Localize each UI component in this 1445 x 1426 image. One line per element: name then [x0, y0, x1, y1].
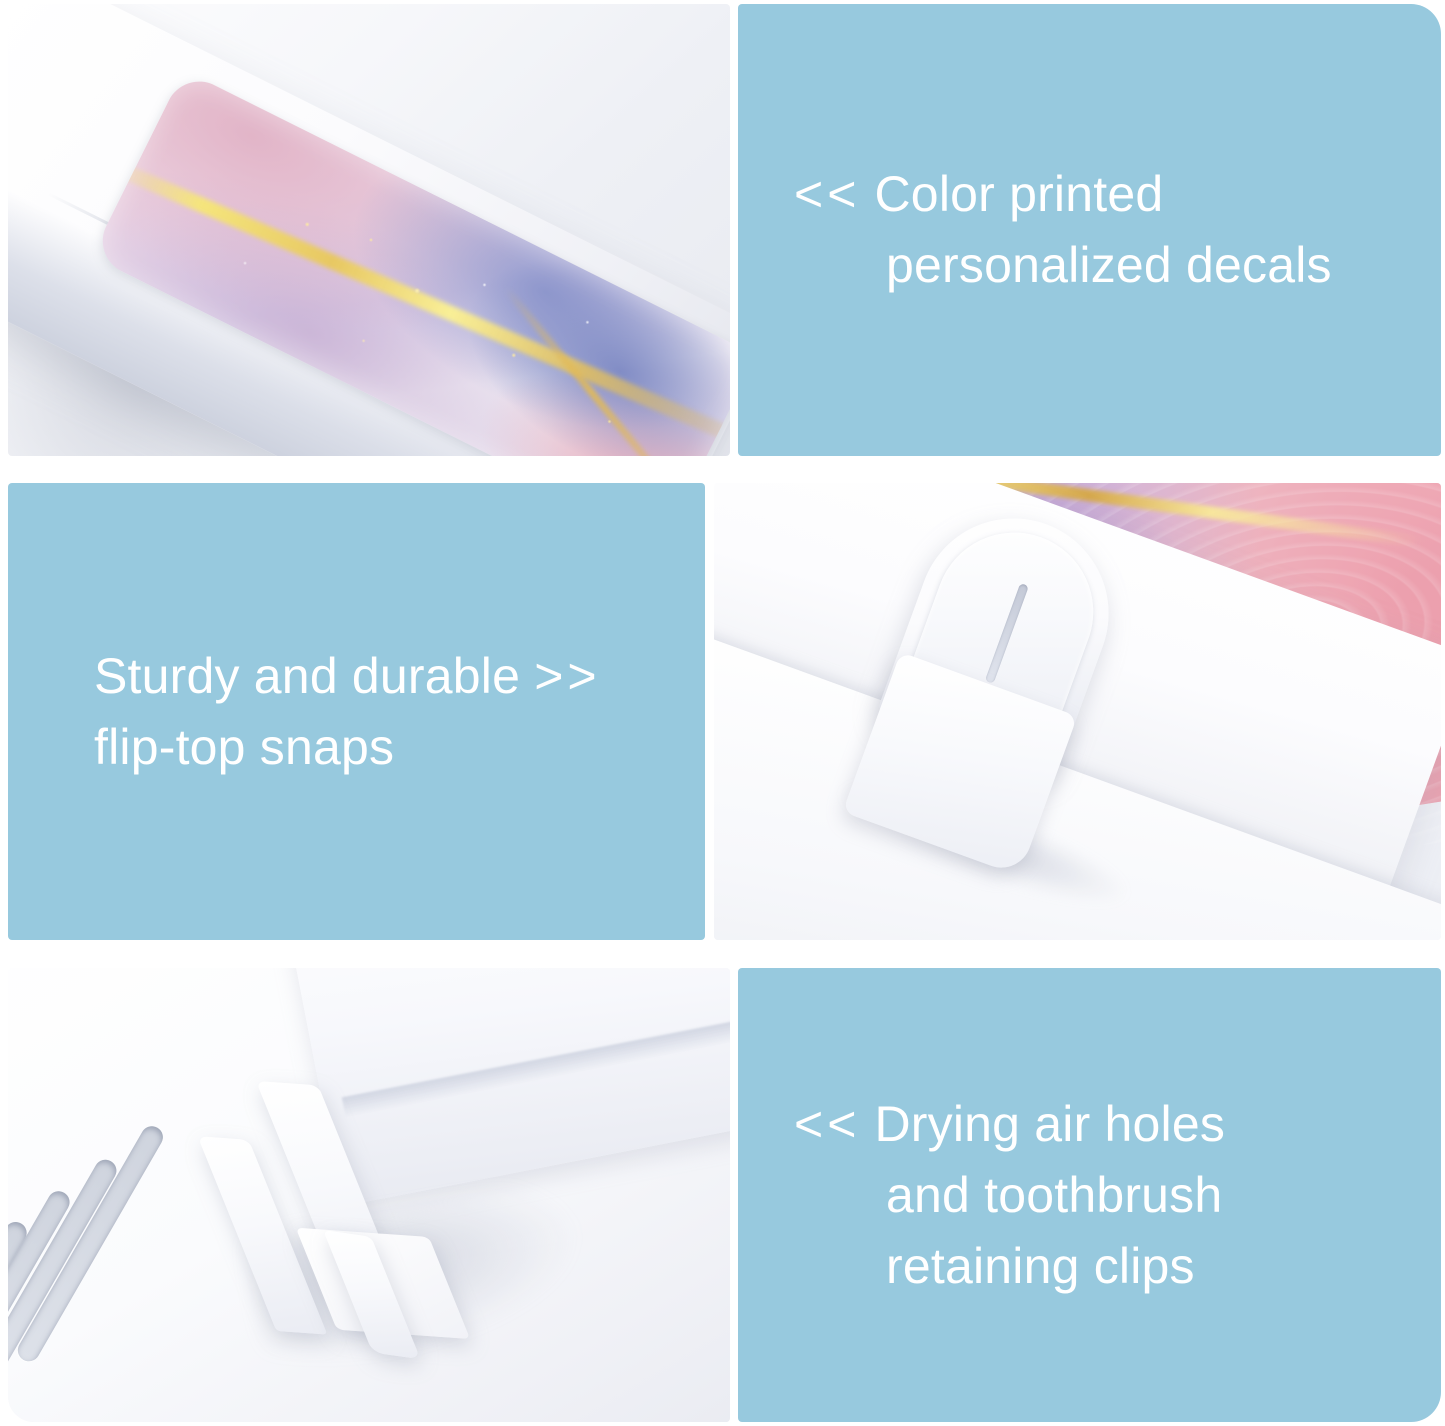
- chevron-left-icon: <<: [794, 1096, 860, 1152]
- caption-line-2: and toothbrush: [794, 1160, 1225, 1231]
- caption-line-2-text: flip-top snaps: [94, 719, 394, 775]
- product-photo-air-holes-and-clips: [8, 968, 730, 1422]
- caption-text-block: << Drying air holes and toothbrush retai…: [738, 1089, 1225, 1302]
- caption-panel-air-holes-and-clips: << Drying air holes and toothbrush retai…: [738, 968, 1441, 1422]
- chevron-left-icon: <<: [794, 166, 860, 222]
- caption-line-2-text: personalized decals: [886, 237, 1332, 293]
- caption-line-2: personalized decals: [794, 230, 1332, 301]
- caption-line-1-text: Sturdy and durable: [94, 648, 520, 704]
- product-photo-flip-top-snap: [714, 483, 1441, 940]
- caption-text-block: Sturdy and durable >> flip-top snaps: [8, 641, 601, 783]
- caption-line-1-text: Drying air holes: [875, 1096, 1226, 1152]
- caption-line-1: Sturdy and durable >>: [94, 641, 601, 712]
- caption-panel-flip-top-snaps: Sturdy and durable >> flip-top snaps: [8, 483, 705, 940]
- caption-line-2: flip-top snaps: [94, 712, 601, 783]
- caption-line-1-text: Color printed: [875, 166, 1164, 222]
- caption-panel-color-printed-decals: << Color printed personalized decals: [738, 4, 1441, 456]
- caption-line-1: << Drying air holes: [794, 1089, 1225, 1160]
- chevron-right-icon: >>: [534, 648, 600, 704]
- caption-text-block: << Color printed personalized decals: [738, 159, 1332, 301]
- product-photo-marble-decal: [8, 4, 730, 456]
- caption-line-2-text: and toothbrush: [886, 1167, 1222, 1223]
- caption-line-1: << Color printed: [794, 159, 1332, 230]
- caption-line-3: retaining clips: [794, 1231, 1225, 1302]
- caption-line-3-text: retaining clips: [886, 1238, 1195, 1294]
- product-feature-infographic: << Color printed personalized decals Stu…: [0, 0, 1445, 1426]
